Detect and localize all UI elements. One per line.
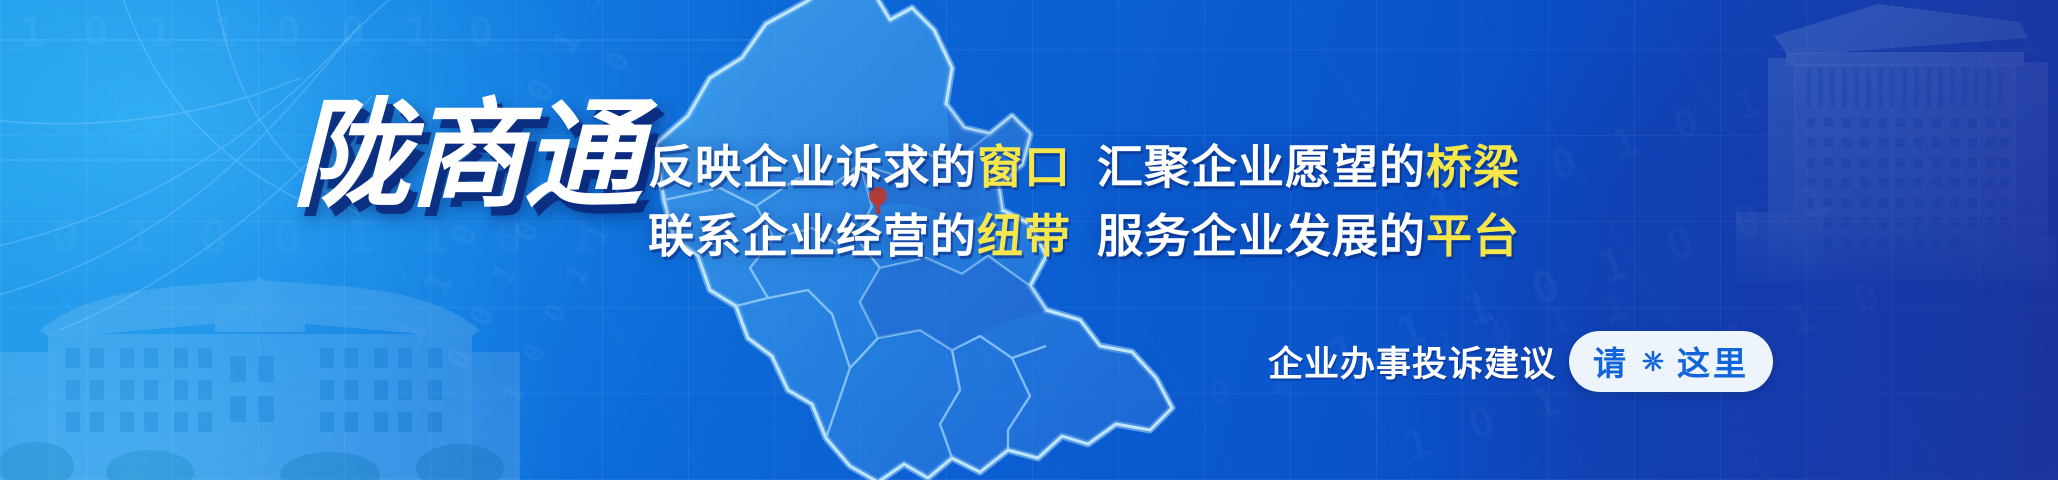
slogan-1-highlight-2: 桥梁 bbox=[1426, 140, 1520, 194]
slogan-2-highlight-2: 平台 bbox=[1426, 209, 1520, 263]
click-sparkle-icon bbox=[1638, 346, 1668, 376]
cta-row: 企业办事投诉建议 请 这里 bbox=[1268, 331, 1773, 392]
cta-label: 企业办事投诉建议 bbox=[1268, 336, 1556, 387]
slogan-1-seg-2: 汇聚企业愿望的 bbox=[1097, 140, 1426, 194]
click-here-prefix: 请 bbox=[1593, 337, 1629, 385]
slogan-1-seg-1: 反映企业诉求的 bbox=[648, 140, 977, 194]
click-here-suffix: 这里 bbox=[1677, 337, 1749, 385]
banner-content: 陇商通 反映企业诉求的窗口汇聚企业愿望的桥梁 联系企业经营的纽带服务企业发展的平… bbox=[0, 0, 2058, 480]
slogan-2-seg-2: 服务企业发展的 bbox=[1097, 209, 1426, 263]
slogan-2-seg-1: 联系企业经营的 bbox=[648, 209, 977, 263]
click-here-button[interactable]: 请 这里 bbox=[1569, 331, 1773, 392]
slogan-line-1: 反映企业诉求的窗口汇聚企业愿望的桥梁 bbox=[648, 144, 1948, 190]
slogan-line-2: 联系企业经营的纽带服务企业发展的平台 bbox=[648, 213, 1948, 259]
slogan-1-highlight-1: 窗口 bbox=[977, 140, 1071, 194]
longshangtong-banner: 1 0 1 1 0 0 1 0 0 1 0 0 1 1 0 1 1 1 0 1 … bbox=[0, 0, 2058, 480]
slogan-block: 反映企业诉求的窗口汇聚企业愿望的桥梁 联系企业经营的纽带服务企业发展的平台 bbox=[648, 144, 1948, 259]
slogan-2-highlight-1: 纽带 bbox=[977, 209, 1071, 263]
brand-title: 陇商通 bbox=[292, 96, 640, 214]
